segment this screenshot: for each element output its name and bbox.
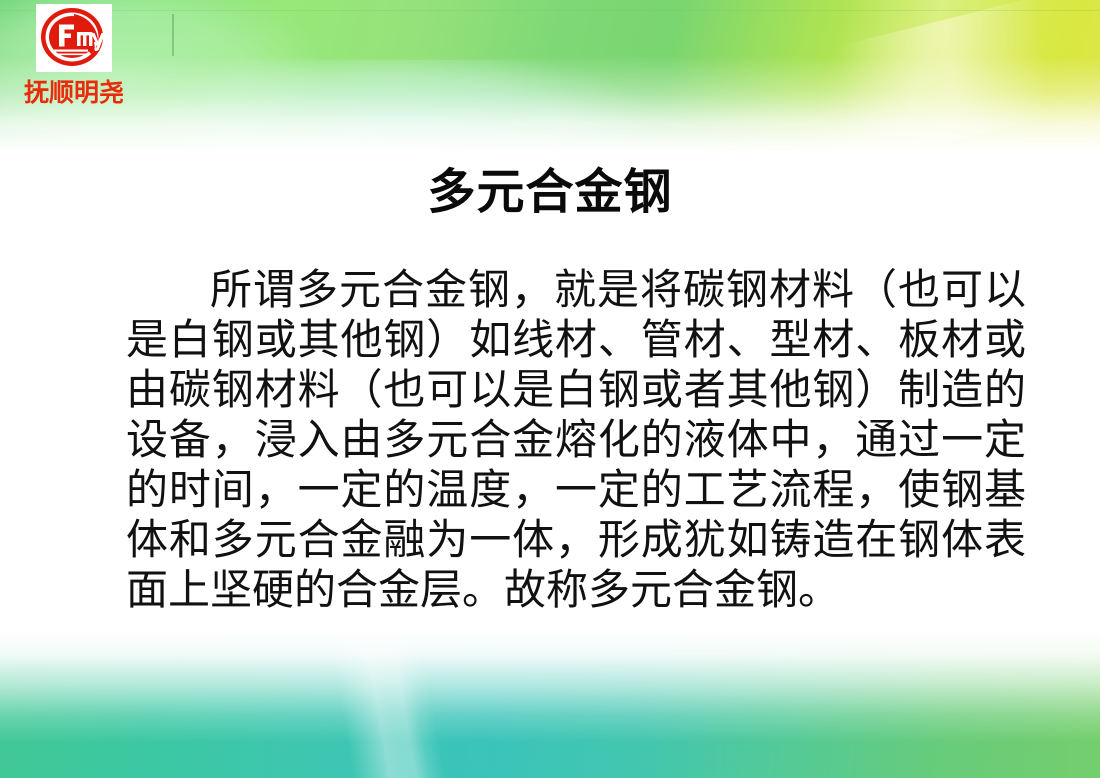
- top-decorative-band: [0, 0, 1100, 152]
- bottom-band-white-fade: [0, 630, 1100, 742]
- slide-title: 多元合金钢: [0, 166, 1100, 219]
- company-name-label: 抚顺明尧: [14, 80, 134, 105]
- logo-mark-container: [36, 4, 112, 72]
- fmy-logo-icon: [36, 4, 112, 72]
- top-band-white-fade: [0, 56, 1100, 152]
- brand-logo-block: 抚顺明尧: [14, 4, 134, 105]
- top-band-horizontal-hairline: [0, 10, 1100, 11]
- slide-body-paragraph: 所谓多元合金钢，就是将碳钢材料（也可以是白钢或其他钢）如线材、管材、型材、板材或…: [126, 265, 1026, 615]
- top-band-vertical-hairline: [172, 14, 174, 56]
- presentation-slide: 抚顺明尧 多元合金钢 所谓多元合金钢，就是将碳钢材料（也可以是白钢或其他钢）如线…: [0, 0, 1100, 778]
- bottom-decorative-band: [0, 630, 1100, 778]
